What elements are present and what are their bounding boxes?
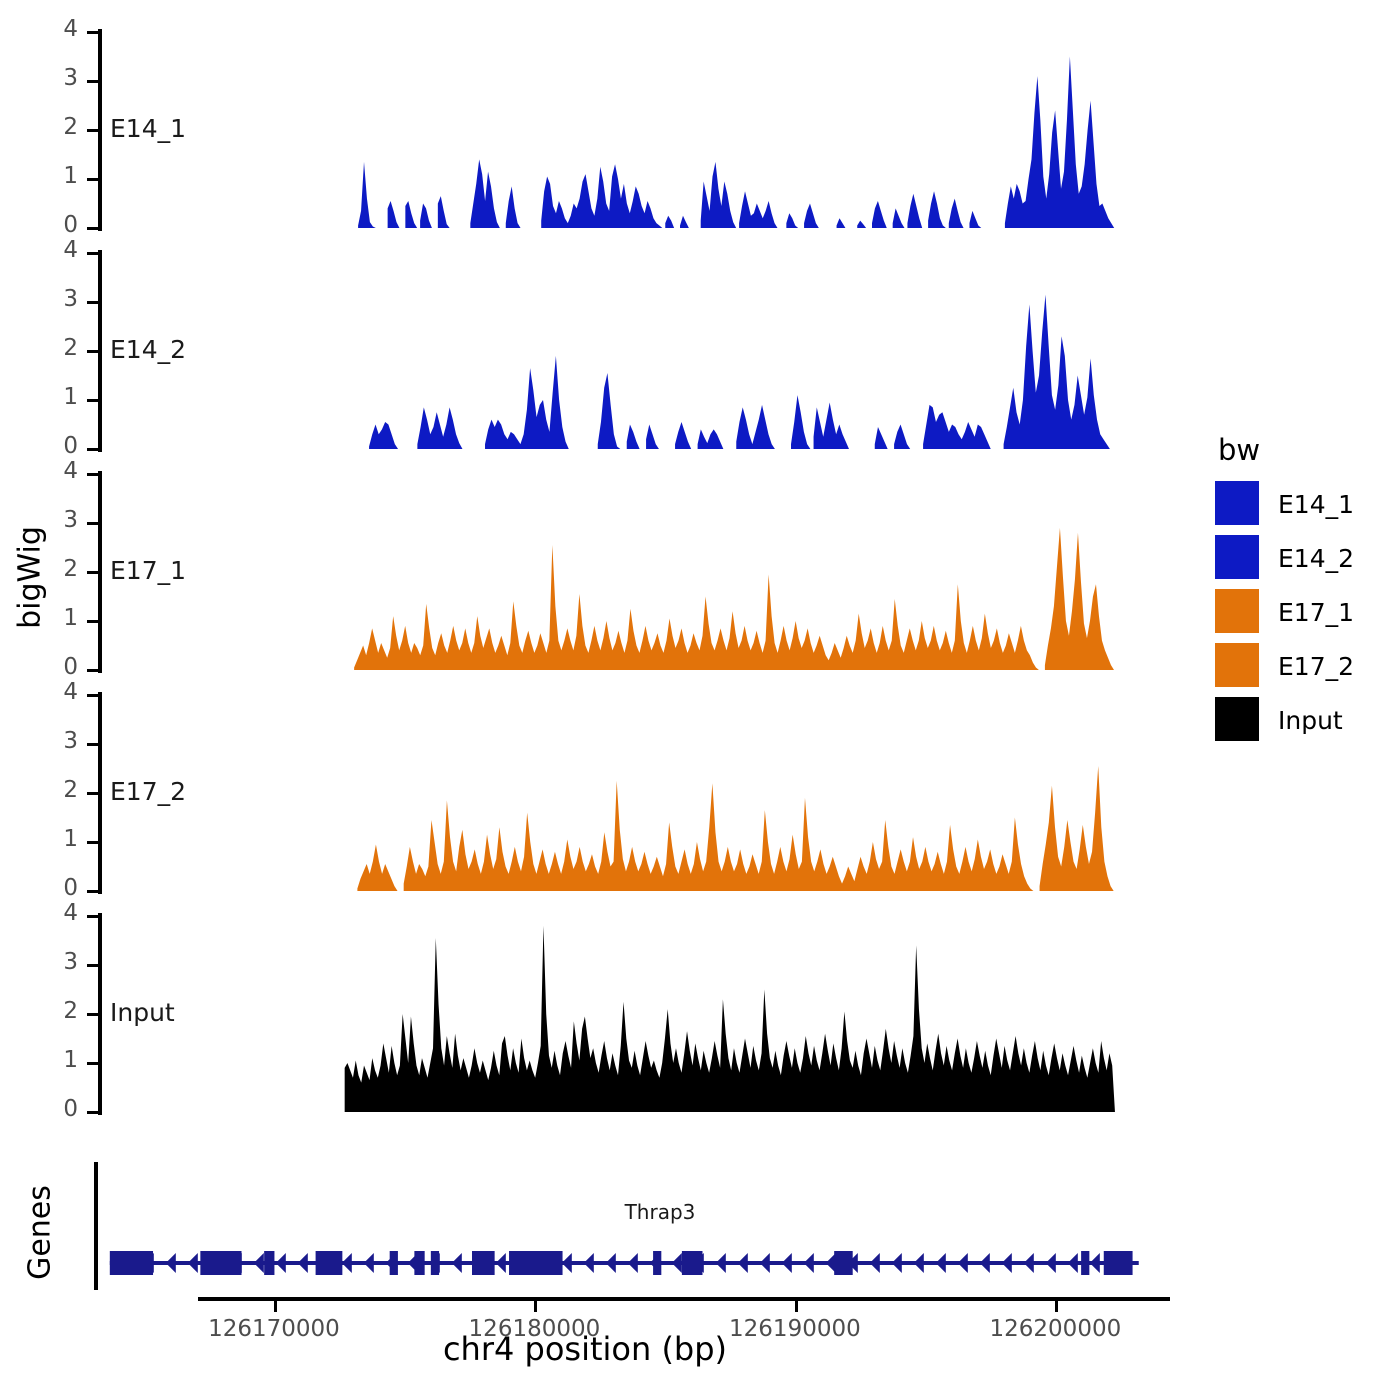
legend-title: bw bbox=[1218, 433, 1260, 467]
gene-exon bbox=[414, 1251, 424, 1275]
gene-exon bbox=[1081, 1251, 1089, 1275]
x-axis-line bbox=[198, 1297, 1170, 1301]
signal-track-e14_1[interactable] bbox=[0, 32, 1180, 236]
legend-swatch-input bbox=[1215, 697, 1259, 741]
gene-exon bbox=[431, 1251, 439, 1275]
gene-model-svg[interactable] bbox=[0, 1243, 1200, 1283]
legend-label-e17_1: E17_1 bbox=[1278, 598, 1354, 627]
x-axis-tick bbox=[1055, 1301, 1058, 1312]
gene-exon bbox=[509, 1251, 563, 1275]
x-axis-tick bbox=[795, 1301, 798, 1312]
legend-swatch-e17_2 bbox=[1215, 643, 1259, 687]
gene-exon bbox=[834, 1251, 853, 1275]
gene-exon bbox=[682, 1251, 703, 1275]
x-axis-tick bbox=[274, 1301, 277, 1312]
gene-exon bbox=[472, 1251, 495, 1275]
legend-swatch-e14_2 bbox=[1215, 535, 1259, 579]
x-axis-title: chr4 position (bp) bbox=[0, 1330, 1170, 1368]
x-axis-tick bbox=[534, 1301, 537, 1312]
gene-exon bbox=[653, 1251, 661, 1275]
signal-track-e17_1[interactable] bbox=[0, 474, 1180, 678]
legend-label-e14_1: E14_1 bbox=[1278, 490, 1354, 519]
gene-exon bbox=[316, 1251, 343, 1275]
gene-label: Thrap3 bbox=[560, 1200, 760, 1224]
legend-label-e14_2: E14_2 bbox=[1278, 544, 1354, 573]
gene-exon bbox=[200, 1251, 241, 1275]
legend-swatch-e14_1 bbox=[1215, 481, 1259, 525]
legend-label-input: Input bbox=[1278, 706, 1343, 735]
gene-exon bbox=[1104, 1251, 1133, 1275]
gene-exon bbox=[264, 1251, 274, 1275]
signal-track-e17_2[interactable] bbox=[0, 695, 1180, 899]
gene-exon bbox=[390, 1251, 398, 1275]
signal-track-input[interactable] bbox=[0, 916, 1180, 1120]
signal-track-e14_2[interactable] bbox=[0, 253, 1180, 457]
legend-label-e17_2: E17_2 bbox=[1278, 652, 1354, 681]
legend-swatch-e17_1 bbox=[1215, 589, 1259, 633]
gene-exon bbox=[110, 1251, 153, 1275]
